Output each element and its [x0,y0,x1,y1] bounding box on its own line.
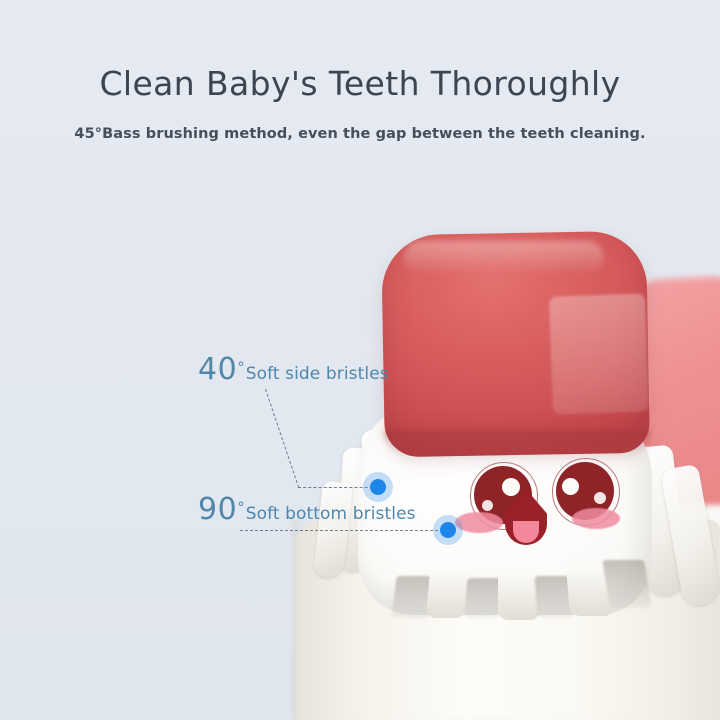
cap-gloss-highlight [549,293,649,414]
product-feature-image: Clean Baby's Teeth Thoroughly 45°Bass br… [0,0,720,720]
leader-line-horizontal-90 [240,530,448,531]
callout-soft-side-bristles: 40°Soft side bristles [198,352,389,387]
bottom-bristle-tuft-1 [426,570,470,618]
callout-label-soft-side: Soft side bristles [246,364,389,384]
degree-symbol-icon-90: ° [237,499,245,517]
page-title: Clean Baby's Teeth Thoroughly [0,64,720,103]
page-subtitle: 45°Bass brushing method, even the gap be… [0,126,720,142]
callout-label-soft-bottom: Soft bottom bristles [246,504,416,524]
callout-angle-value-90: 90 [198,492,237,527]
left-eye-highlight-small [482,500,493,511]
left-cheek-blush [455,512,503,533]
cap-bottom-shadow [383,430,651,458]
callout-soft-bottom-bristles: 90°Soft bottom bristles [198,492,416,527]
hotspot-dot-bottom-bristles[interactable] [440,522,456,538]
degree-symbol-icon-40: ° [237,359,245,377]
callout-angle-value-40: 40 [198,352,237,387]
left-eye-highlight-large [502,478,520,496]
bottom-tuft-shadow-2 [465,578,502,618]
right-eye-highlight-large [562,478,579,495]
leader-line-horizontal-40 [298,487,378,488]
right-eye-highlight-small [594,492,606,504]
cap-top-sheen [404,241,604,275]
right-cheek-blush [572,508,620,529]
bottom-tuft-shadow-4 [602,560,652,608]
bottom-bristle-tuft-2 [498,572,540,620]
